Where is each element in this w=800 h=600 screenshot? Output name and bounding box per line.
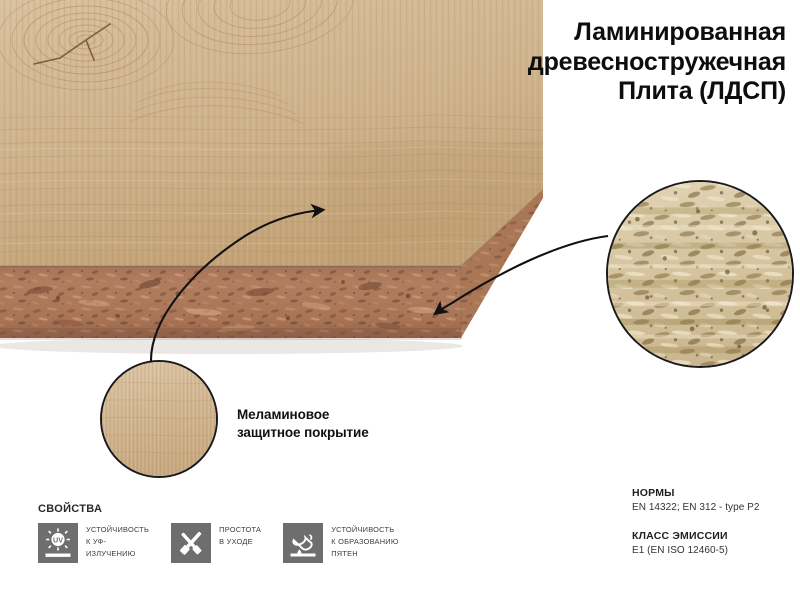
board-shadow <box>0 338 463 354</box>
particleboard-zoom-svg <box>608 182 792 366</box>
property-easy-care-label: ПРОСТОТА В УХОДЕ <box>219 523 261 548</box>
emission-class-heading: КЛАСС ЭМИССИИ <box>632 530 800 542</box>
norm-group-emission: КЛАСС ЭМИССИИ E1 (EN ISO 12460-5) <box>632 530 800 556</box>
properties-row: UV УСТОЙЧИВОСТЬ К УФ- ИЗЛУЧЕНИЮ <box>38 523 421 563</box>
melamine-callout-label: Меламиновое защитное покрытие <box>237 406 369 442</box>
properties-section: СВОЙСТВА <box>38 503 421 563</box>
emission-class-value: E1 (EN ISO 12460-5) <box>632 545 800 556</box>
property-stain-label: УСТОЙЧИВОСТЬ К ОБРАЗОВАНИЮ ПЯТЕН <box>331 523 398 560</box>
easy-care-icon <box>171 523 211 563</box>
norm-group-standards: НОРМЫ EN 14322; EN 312 - type P2 <box>632 487 800 513</box>
property-stain-resistance: УСТОЙЧИВОСТЬ К ОБРАЗОВАНИЮ ПЯТЕН <box>283 523 398 563</box>
norms-section: НОРМЫ EN 14322; EN 312 - type P2 КЛАСС Э… <box>632 487 800 573</box>
callout-line-1: Меламиновое <box>237 406 369 424</box>
norms-value: EN 14322; EN 312 - type P2 <box>632 502 800 513</box>
properties-heading: СВОЙСТВА <box>38 503 421 515</box>
property-uv-label: УСТОЙЧИВОСТЬ К УФ- ИЗЛУЧЕНИЮ <box>86 523 149 560</box>
title-line-3: Плита (ЛДСП) <box>366 77 786 107</box>
stain-resistance-icon <box>283 523 323 563</box>
title-line-2: древесностружечная <box>366 48 786 78</box>
property-easy-care: ПРОСТОТА В УХОДЕ <box>171 523 261 563</box>
melamine-surface-zoom-circle <box>100 360 218 478</box>
melamine-zoom-svg <box>102 362 216 476</box>
page-title: Ламинированная древесностружечная Плита … <box>366 18 786 107</box>
property-uv-resistance: UV УСТОЙЧИВОСТЬ К УФ- ИЗЛУЧЕНИЮ <box>38 523 149 563</box>
particleboard-core-zoom-circle <box>606 180 794 368</box>
infographic-page: Ламинированная древесностружечная Плита … <box>0 0 800 600</box>
callout-line-2: защитное покрытие <box>237 424 369 442</box>
title-line-1: Ламинированная <box>366 18 786 48</box>
norms-heading: НОРМЫ <box>632 487 800 499</box>
svg-text:UV: UV <box>53 536 63 545</box>
uv-resistance-icon: UV <box>38 523 78 563</box>
board-front-edge-core <box>0 266 461 340</box>
